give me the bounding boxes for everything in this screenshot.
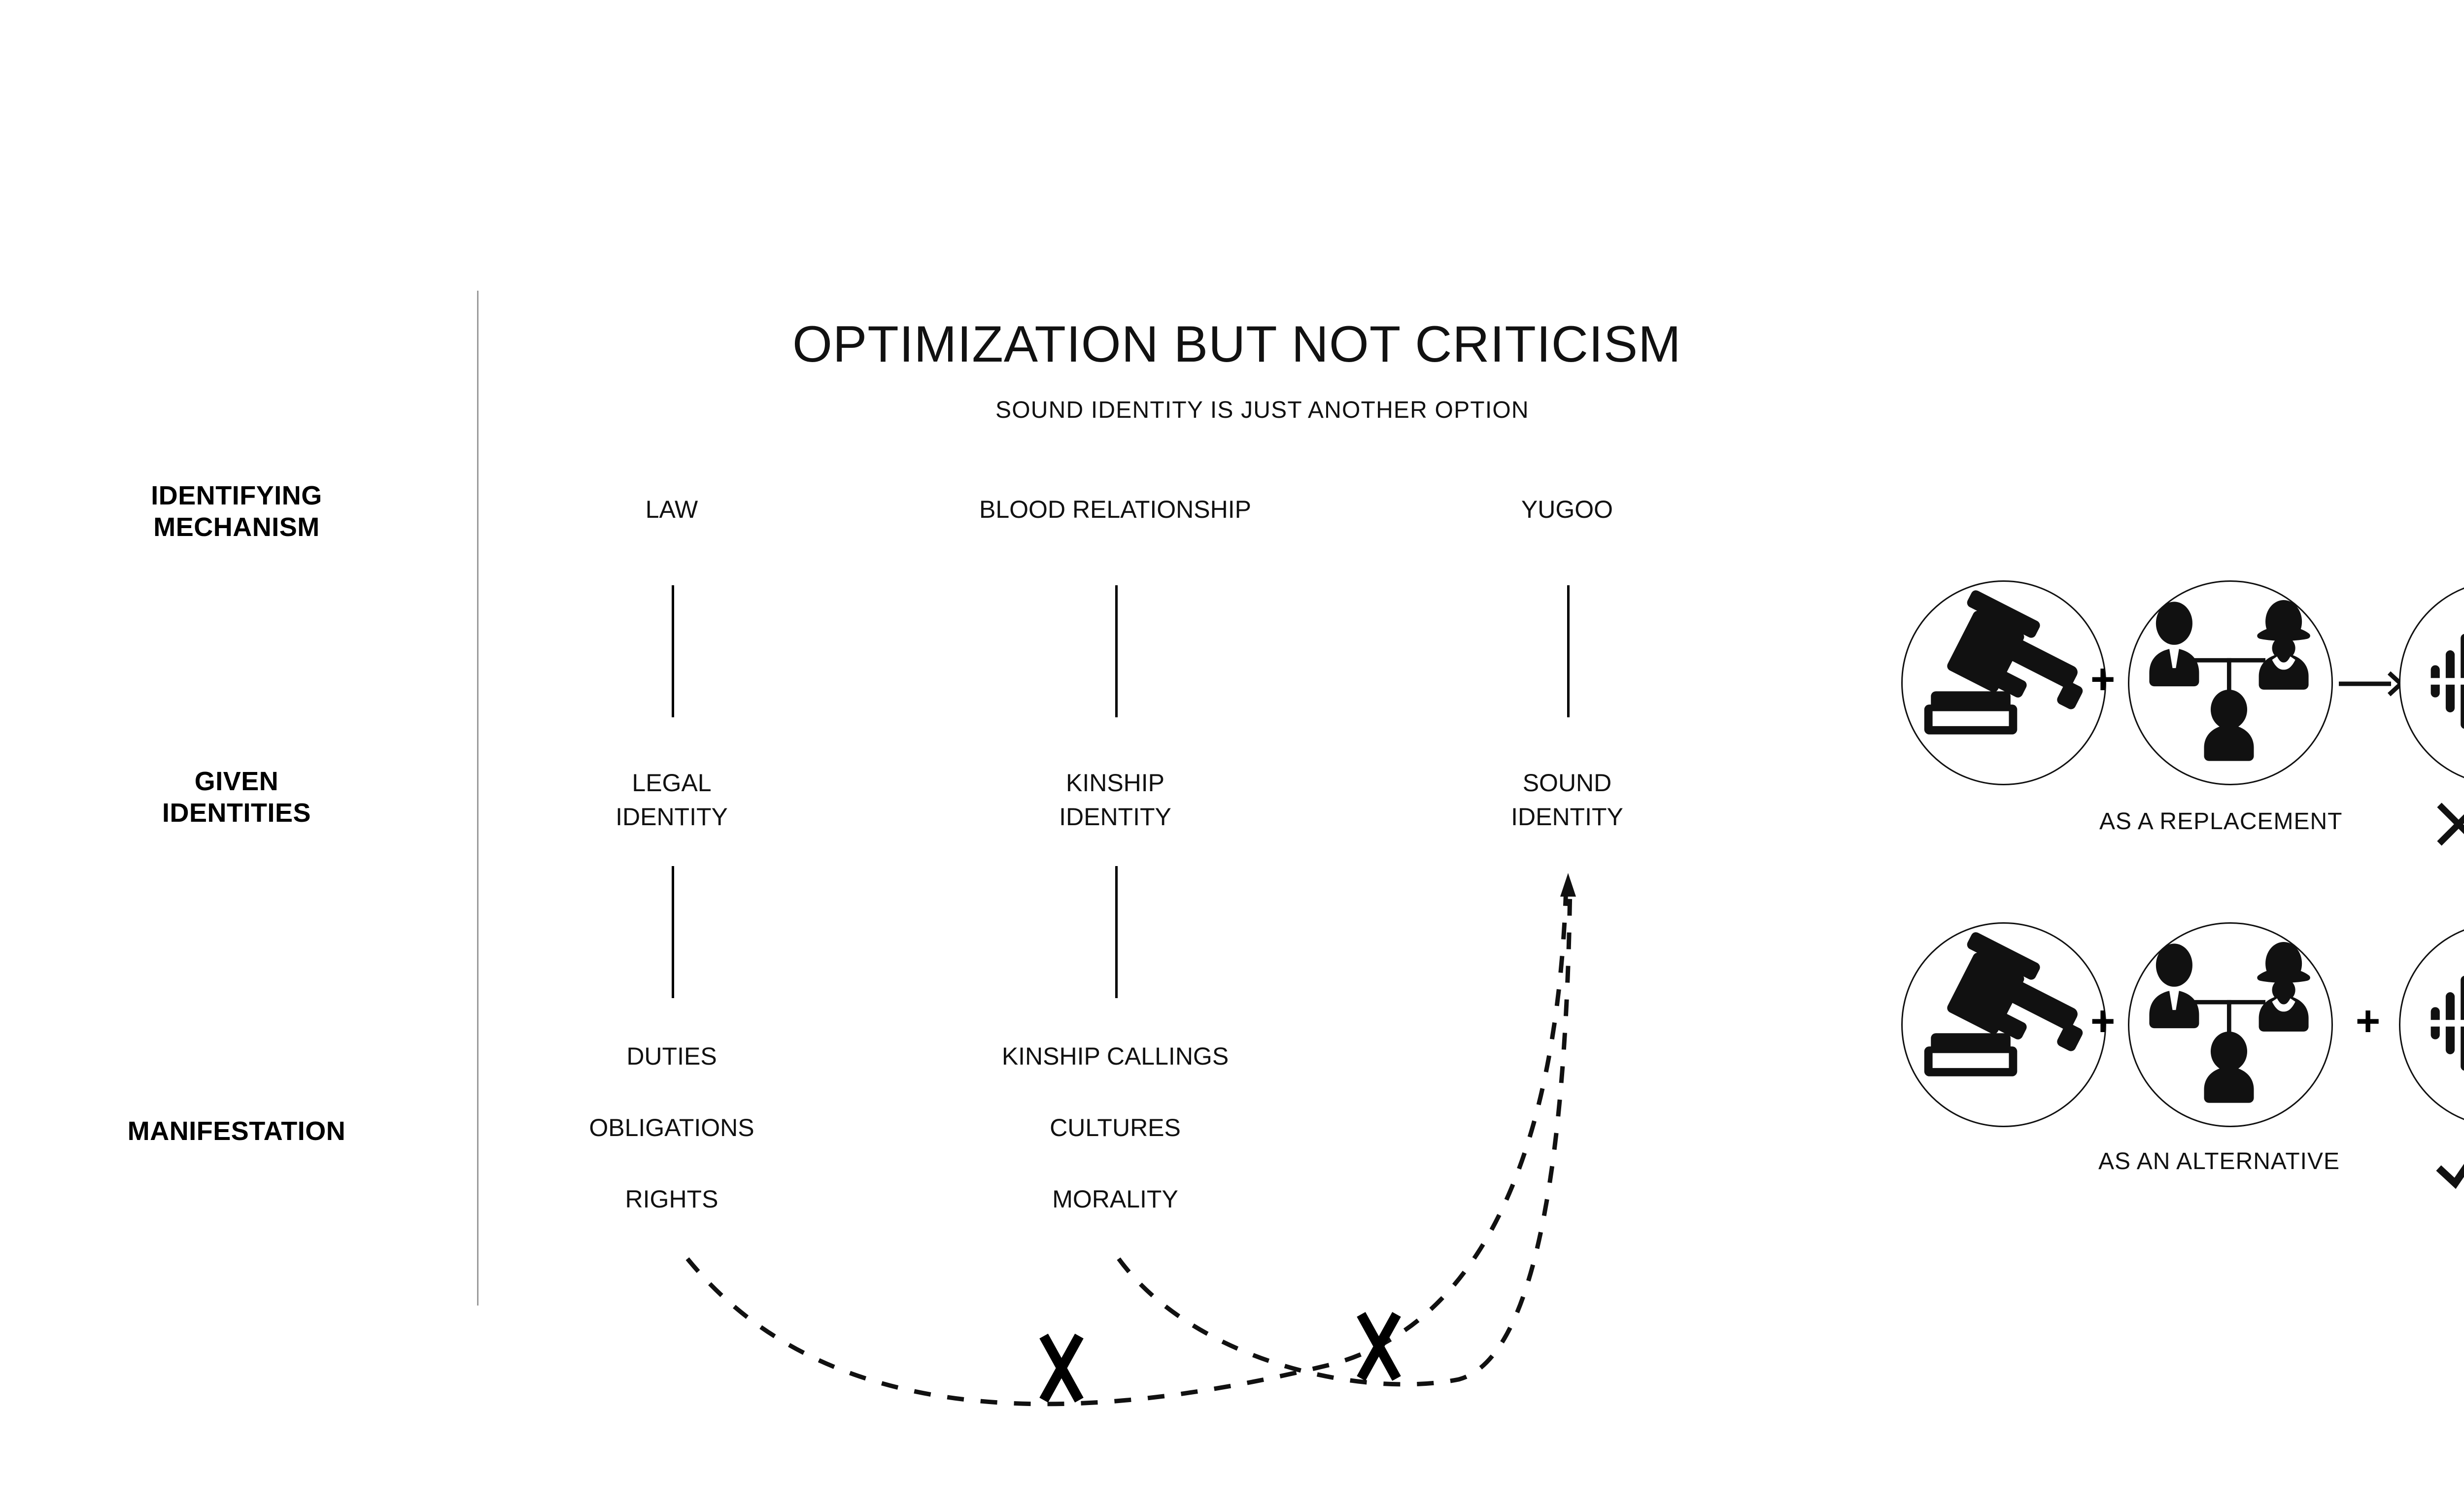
slide-canvas: OPTIMIZATION BUT NOT CRITICISM SOUND IDE… xyxy=(0,0,2464,1508)
check-icon-alternative xyxy=(2435,1128,2464,1192)
caption-as-an-alternative: AS AN ALTERNATIVE xyxy=(2098,1148,2340,1175)
operator-plus-alternative-2: + xyxy=(2356,1000,2380,1042)
operator-plus-replacement: + xyxy=(2090,658,2115,701)
family-tree-icon xyxy=(2129,582,2328,781)
curve-morality-to-sound-identity xyxy=(1119,887,1570,1384)
family-tree-icon-circle-replacement xyxy=(2128,580,2333,785)
gavel-icon xyxy=(1903,582,2102,781)
curve-arrowhead-icon xyxy=(1560,873,1576,897)
family-tree-icon-circle-alternative xyxy=(2128,922,2333,1127)
family-tree-icon xyxy=(2129,924,2328,1123)
reject-mark-left xyxy=(1044,1336,1079,1400)
caption-as-a-replacement: AS A REPLACEMENT xyxy=(2099,808,2343,835)
gavel-icon-circle-alternative xyxy=(1901,922,2106,1127)
waveform-icon xyxy=(2400,582,2464,781)
operator-plus-alternative-1: + xyxy=(2090,1000,2115,1042)
cross-icon-replacement xyxy=(2434,800,2464,854)
curve-rights-to-sound-identity xyxy=(687,887,1566,1404)
waveform-icon-circle-alternative xyxy=(2399,922,2464,1127)
gavel-icon xyxy=(1903,924,2102,1123)
gavel-icon-circle-replacement xyxy=(1901,580,2106,785)
reject-mark-right xyxy=(1361,1314,1397,1378)
waveform-icon xyxy=(2400,924,2464,1123)
waveform-icon-circle-replacement xyxy=(2399,580,2464,785)
